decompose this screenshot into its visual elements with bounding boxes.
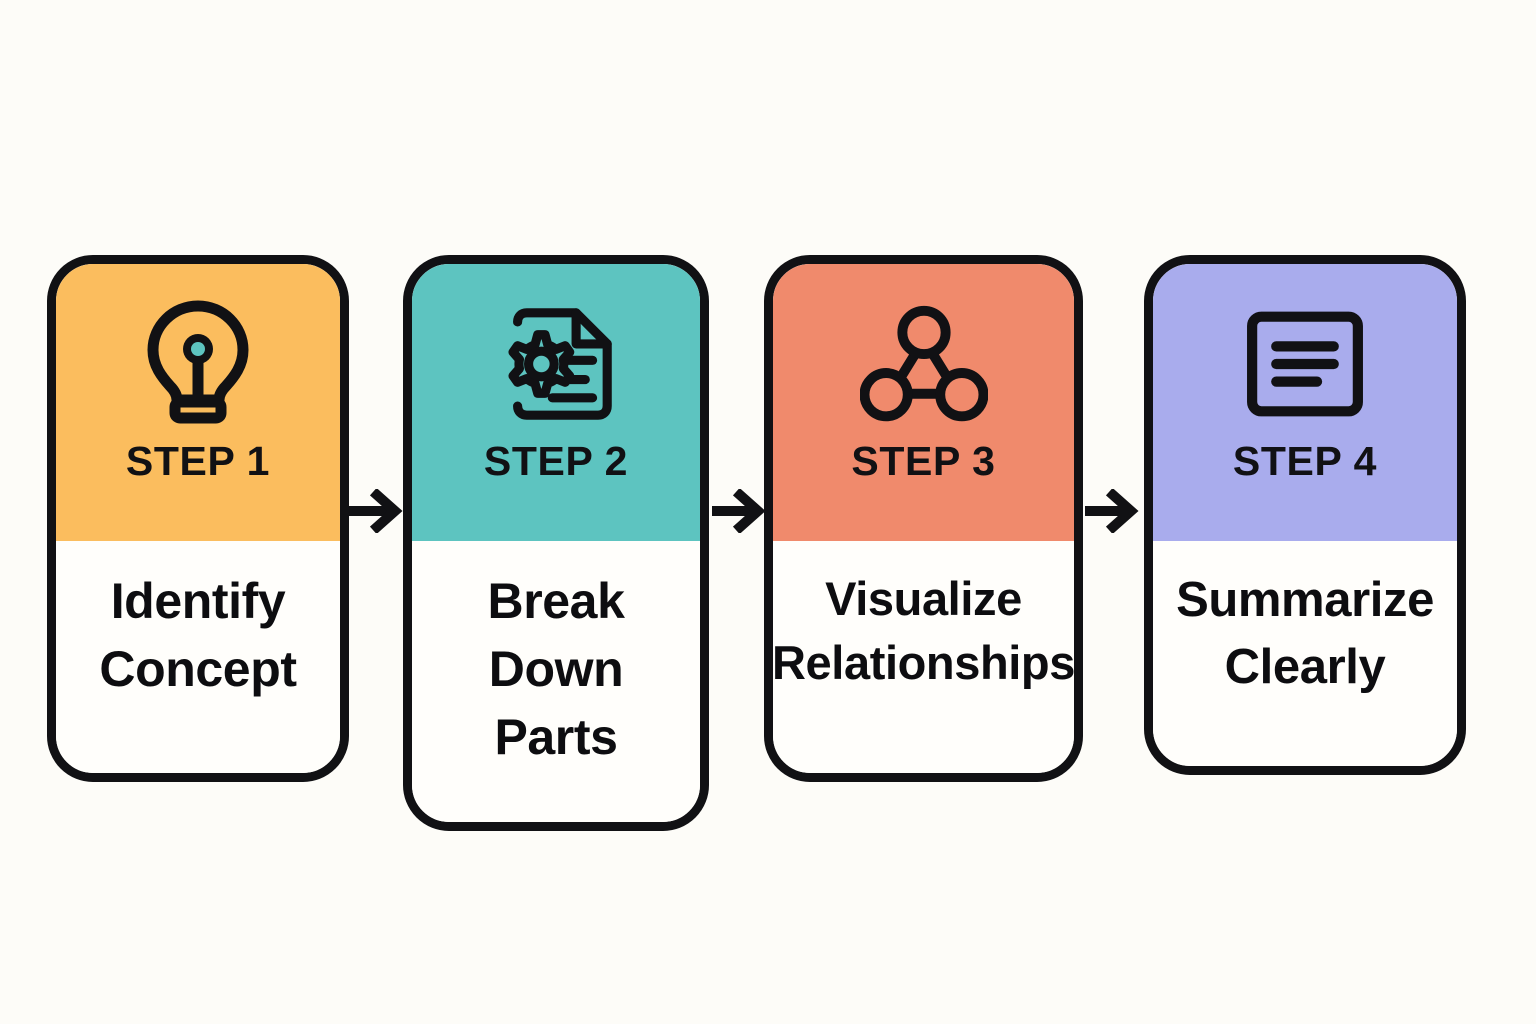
step-card-2-title-line-3: Parts [488,703,625,771]
step-card-2-step-label: STEP 2 [484,438,628,485]
step-card-4[interactable]: STEP 4 Summarize Clearly [1144,255,1466,775]
step-card-1-step-label: STEP 1 [126,438,270,485]
step-card-1-title: Identify Concept [99,567,296,703]
step-card-2-title-line-1: Break [488,567,625,635]
step-card-2-title: Break Down Parts [488,567,625,771]
arrow-step2-to-step3 [712,489,772,533]
step-card-4-title: Summarize Clearly [1176,567,1434,700]
step-card-3-title: Visualize Relationships [772,567,1075,695]
step-card-3-body: Visualize Relationships [773,541,1074,773]
step-card-1-title-line-2: Concept [99,635,296,703]
step-card-4-title-line-2: Clearly [1176,634,1434,701]
network-nodes-icon [860,294,988,434]
step-card-4-step-label: STEP 4 [1233,438,1377,485]
arrow-step3-to-step4 [1085,489,1145,533]
step-card-1-title-line-1: Identify [99,567,296,635]
lightbulb-icon [134,294,262,434]
process-flow-diagram: STEP 1 Identify Concept [0,0,1536,1024]
step-card-3[interactable]: STEP 3 Visualize Relationships [764,255,1083,782]
step-card-2[interactable]: STEP 2 Break Down Parts [403,255,709,831]
step-card-1[interactable]: STEP 1 Identify Concept [47,255,349,782]
step-card-3-title-line-2: Relationships [772,631,1075,695]
step-card-4-title-line-1: Summarize [1176,567,1434,634]
step-card-2-title-line-2: Down [488,635,625,703]
step-card-3-header: STEP 3 [773,264,1074,541]
step-card-3-step-label: STEP 3 [851,438,995,485]
step-card-2-header: STEP 2 [412,264,700,541]
step-card-1-header: STEP 1 [56,264,340,541]
step-card-1-body: Identify Concept [56,541,340,773]
document-gear-icon [492,294,620,434]
document-lines-icon [1241,294,1369,434]
step-card-3-title-line-1: Visualize [772,567,1075,631]
step-card-4-header: STEP 4 [1153,264,1457,541]
step-card-4-body: Summarize Clearly [1153,541,1457,766]
arrow-step1-to-step2 [349,489,409,533]
step-card-2-body: Break Down Parts [412,541,700,822]
